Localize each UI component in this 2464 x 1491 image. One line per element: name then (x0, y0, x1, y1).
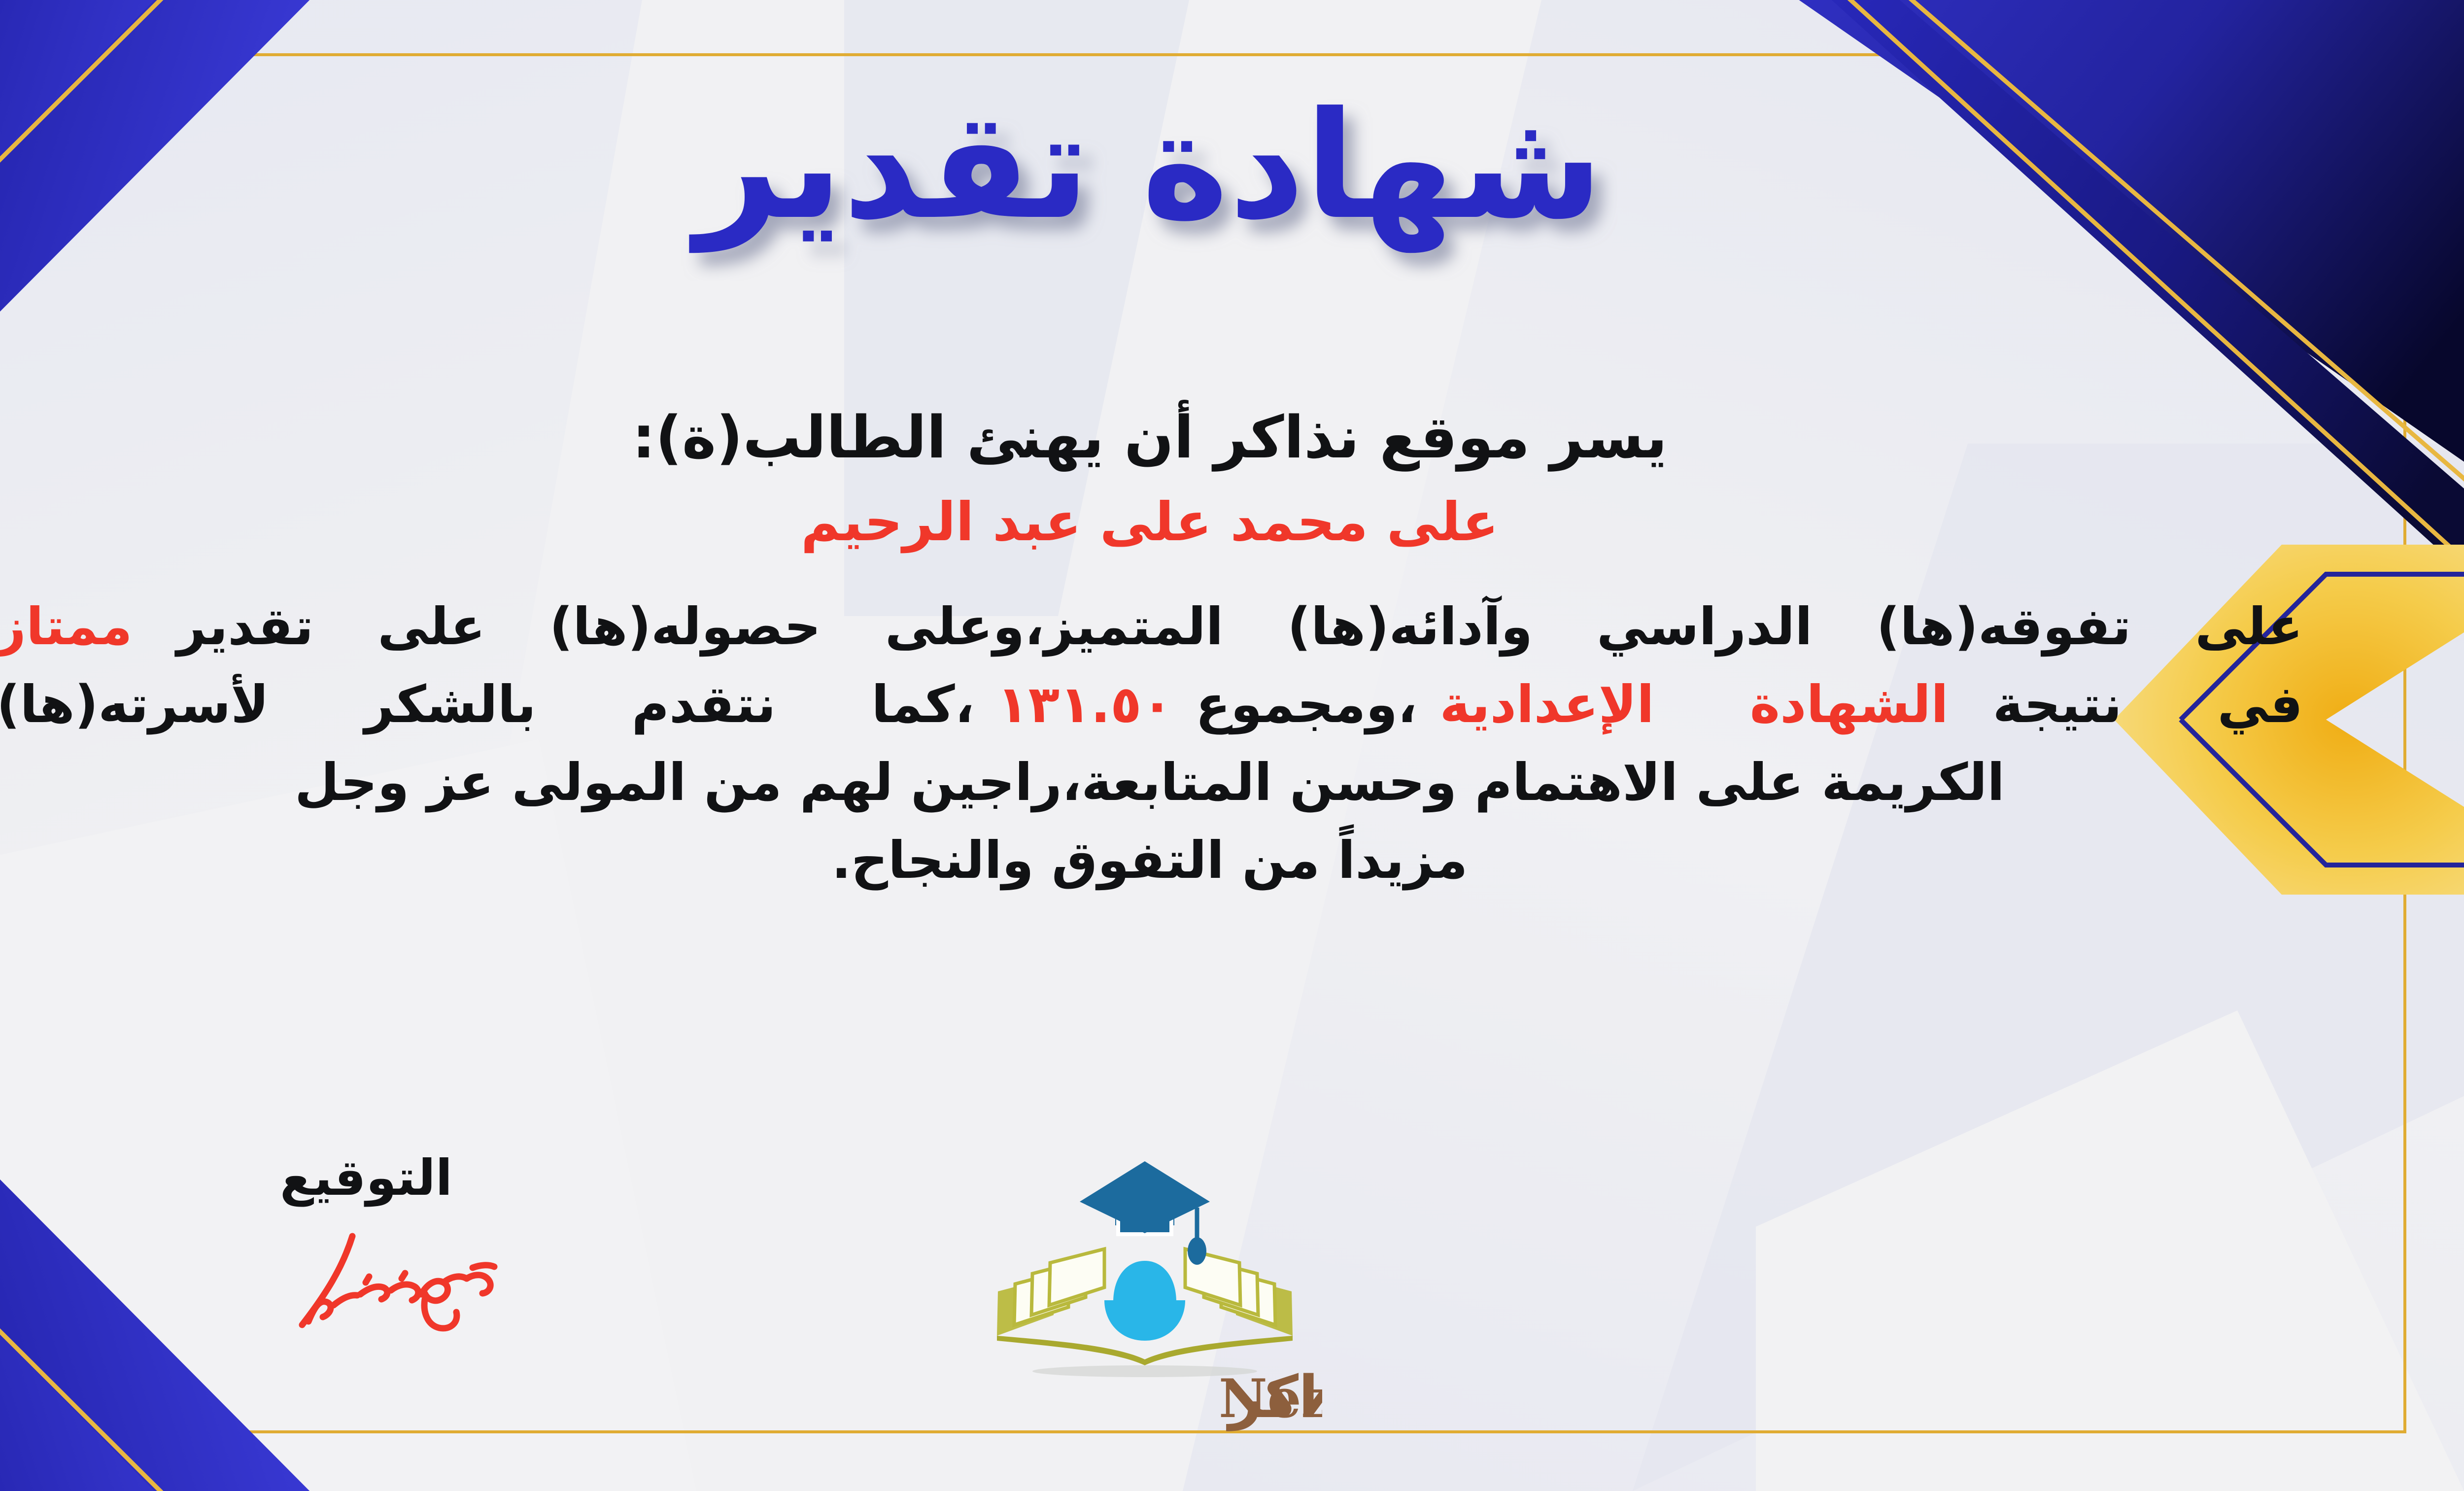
title-text: شهادة تقدير (688, 80, 1603, 254)
citation-line-2: في نتيجةالشهادة الإعدادية،ومجموع١٣١.٥٠،ك… (0, 665, 2303, 743)
citation-line-3: الكريمة على الاهتمام وحسن المتابعة،راجين… (0, 743, 2303, 821)
signature-block: التوقيع (208, 1153, 524, 1346)
brand-logo: نذاكر Nezakr (953, 1129, 1337, 1436)
citation-line-2-suffix: ،كما نتقدم بالشكر لأسرته(ها) (0, 674, 974, 734)
citation-line-1-text: على تفوقه(ها) الدراسي وآدائه(ها) المتميز… (177, 596, 2303, 657)
certificate-page: شهادة تقدير يسر موقع نذاكر أن يهنئ الطال… (0, 0, 2464, 1491)
citation-line-2-mid: ،ومجموع (1196, 674, 1417, 734)
grade-value: ممتاز (0, 596, 133, 657)
nezakr-logo-icon: نذاكر Nezakr (967, 1129, 1322, 1434)
citation-line-2-prefix: في نتيجة (1993, 674, 2303, 734)
certificate-type-value: الشهادة الإعدادية (1439, 674, 1948, 734)
greeting-line: يسر موقع نذاكر أن يهنئ الطالب(ة): (0, 404, 2303, 471)
handwritten-signature-icon (228, 1220, 504, 1344)
citation-line-4: مزيداً من التفوق والنجاح. (0, 821, 2303, 899)
citation-paragraph: على تفوقه(ها) الدراسي وآدائه(ها) المتميز… (0, 588, 2303, 899)
student-name: على محمد على عبد الرحيم (0, 492, 2303, 553)
signature-label: التوقيع (208, 1153, 524, 1203)
certificate-body: يسر موقع نذاكر أن يهنئ الطالب(ة): على مح… (0, 404, 2303, 899)
title-calligraphy: شهادة تقدير (681, 69, 1617, 281)
logo-brand-latin: Nezakr (1219, 1368, 1322, 1430)
certificate-title: شهادة تقدير (0, 69, 2464, 283)
total-score-value: ١٣١.٥٠ (997, 674, 1173, 734)
citation-line-1: على تفوقه(ها) الدراسي وآدائه(ها) المتميز… (0, 588, 2303, 665)
